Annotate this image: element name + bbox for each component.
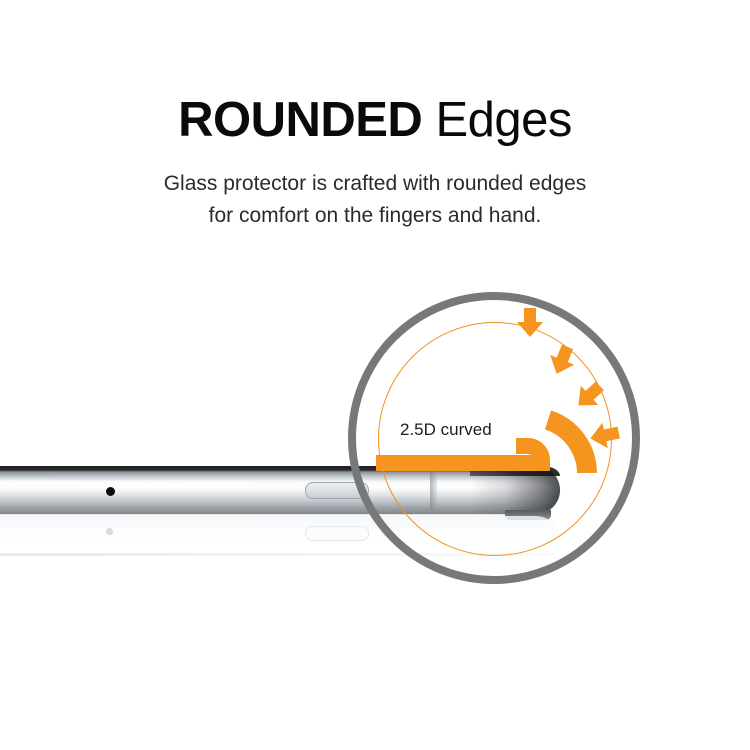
product-feature-banner: ROUNDED Edges Glass protector is crafted… — [0, 0, 750, 750]
page-subtitle-line-1: Glass protector is crafted with rounded … — [0, 168, 750, 200]
page-subtitle: Glass protector is crafted with rounded … — [0, 168, 750, 232]
page-subtitle-line-2: for comfort on the fingers and hand. — [0, 200, 750, 232]
magnifier-callout: 2.5D curved — [348, 292, 640, 584]
reflection-microphone-hole — [106, 528, 113, 535]
microphone-hole-icon — [106, 487, 115, 496]
page-title: ROUNDED Edges — [0, 92, 750, 148]
curved-label: 2.5D curved — [400, 420, 492, 440]
page-title-bold: ROUNDED — [178, 93, 422, 147]
page-title-light: Edges — [422, 93, 572, 147]
